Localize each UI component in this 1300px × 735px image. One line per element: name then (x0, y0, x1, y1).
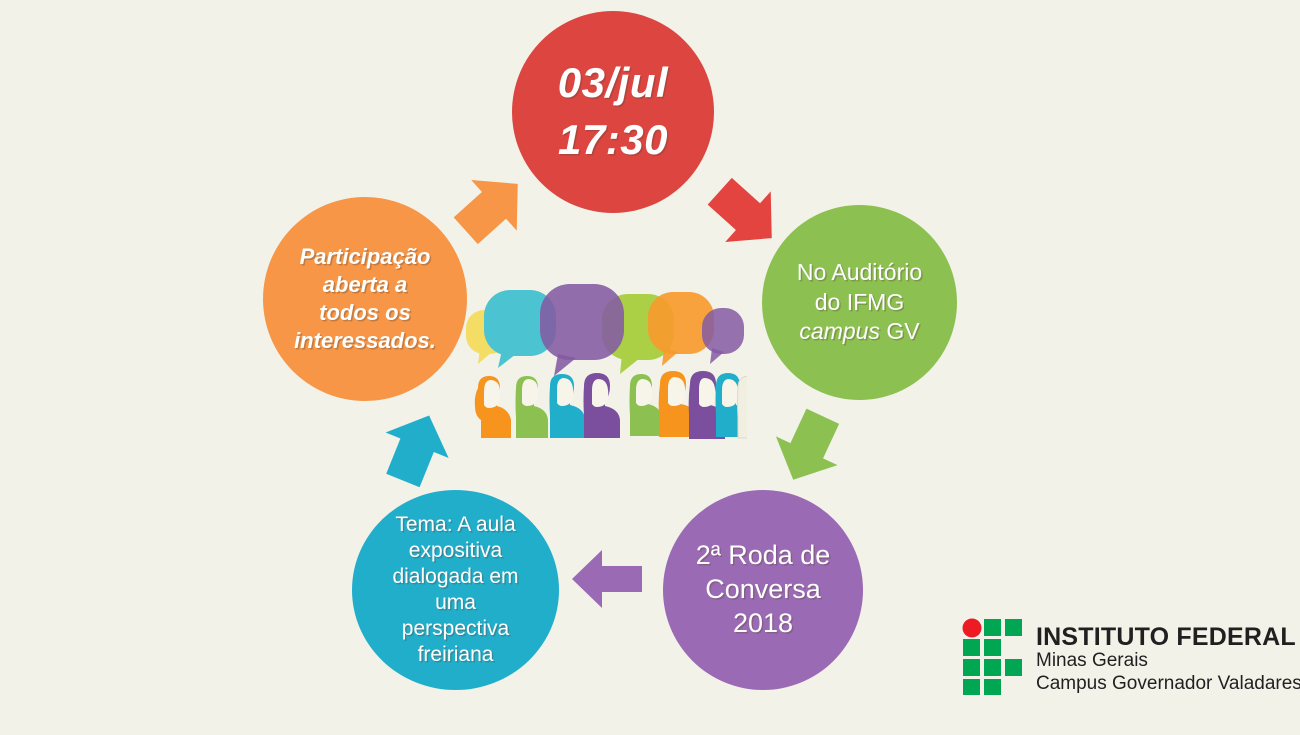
venue-line-2: do IFMG (815, 289, 904, 315)
circle-theme: Tema: A aula expositiva dialogada em uma… (352, 490, 559, 690)
theme-line-2: expositiva (409, 539, 502, 562)
event-line-3: 2018 (733, 608, 793, 638)
person-green (516, 376, 549, 438)
date-line: 03/jul (558, 59, 668, 106)
circle-date-time: 03/jul 17:30 (512, 11, 714, 213)
logo-subtitle-campus: Campus Governador Valadares (1036, 673, 1300, 695)
speech-bubble-purple (540, 284, 624, 376)
participation-line-3: todos os (319, 300, 411, 325)
person-teal (550, 374, 586, 438)
arrow-down-right-icon (697, 172, 793, 256)
person-orange (475, 376, 511, 438)
circle-venue-text: No Auditório do IFMG campus GV (770, 258, 949, 348)
speech-bubble-purple-small (702, 308, 744, 364)
theme-line-4: uma (435, 591, 476, 614)
venue-line-3-italic: campus (799, 318, 880, 344)
theme-line-3: dialogada em (392, 565, 518, 588)
logo-subtitle-state: Minas Gerais (1036, 650, 1300, 672)
speech-bubbles-group (466, 284, 744, 376)
arrow-down-left-icon (761, 404, 855, 492)
circle-participation: Participação aberta a todos os interessa… (263, 197, 467, 401)
theme-line-5: perspectiva (402, 617, 509, 640)
logo-title: INSTITUTO FEDERAL (1036, 624, 1300, 650)
circle-event-title-text: 2ª Roda de Conversa 2018 (671, 539, 855, 640)
arrow-up-right-icon (443, 168, 539, 248)
arrow-left-icon (568, 546, 654, 612)
theme-line-1: Tema: A aula (395, 513, 515, 536)
ifmg-logo-mark-icon (962, 618, 1024, 696)
circle-event-title: 2ª Roda de Conversa 2018 (663, 490, 863, 690)
event-line-1: 2ª Roda de (696, 540, 831, 570)
speech-bubbles-and-people-illustration (462, 276, 747, 441)
participation-line-4: interessados. (294, 328, 436, 353)
poster-canvas: 03/jul 17:30 Participação aberta a todos… (0, 0, 1300, 735)
venue-line-3-rest: GV (880, 318, 920, 344)
person-cream (738, 376, 748, 438)
logo-dot-red (963, 619, 982, 638)
event-line-2: Conversa (705, 574, 821, 604)
circle-date-time-text: 03/jul 17:30 (520, 55, 706, 168)
person-green-2 (630, 374, 663, 436)
time-line: 17:30 (558, 116, 668, 163)
person-purple (584, 373, 621, 438)
theme-line-6: freiriana (418, 643, 494, 666)
participation-line-2: aberta a (323, 272, 407, 297)
people-silhouettes-group (475, 371, 747, 439)
participation-line-1: Participação (300, 244, 431, 269)
ifmg-logo-text: INSTITUTO FEDERAL Minas Gerais Campus Go… (1036, 618, 1300, 695)
circle-participation-text: Participação aberta a todos os interessa… (271, 243, 459, 356)
arrow-up-right-icon (369, 404, 463, 492)
circle-theme-text: Tema: A aula expositiva dialogada em uma… (360, 512, 550, 668)
venue-line-1: No Auditório (797, 259, 922, 285)
ifmg-logo: INSTITUTO FEDERAL Minas Gerais Campus Go… (962, 618, 1282, 700)
